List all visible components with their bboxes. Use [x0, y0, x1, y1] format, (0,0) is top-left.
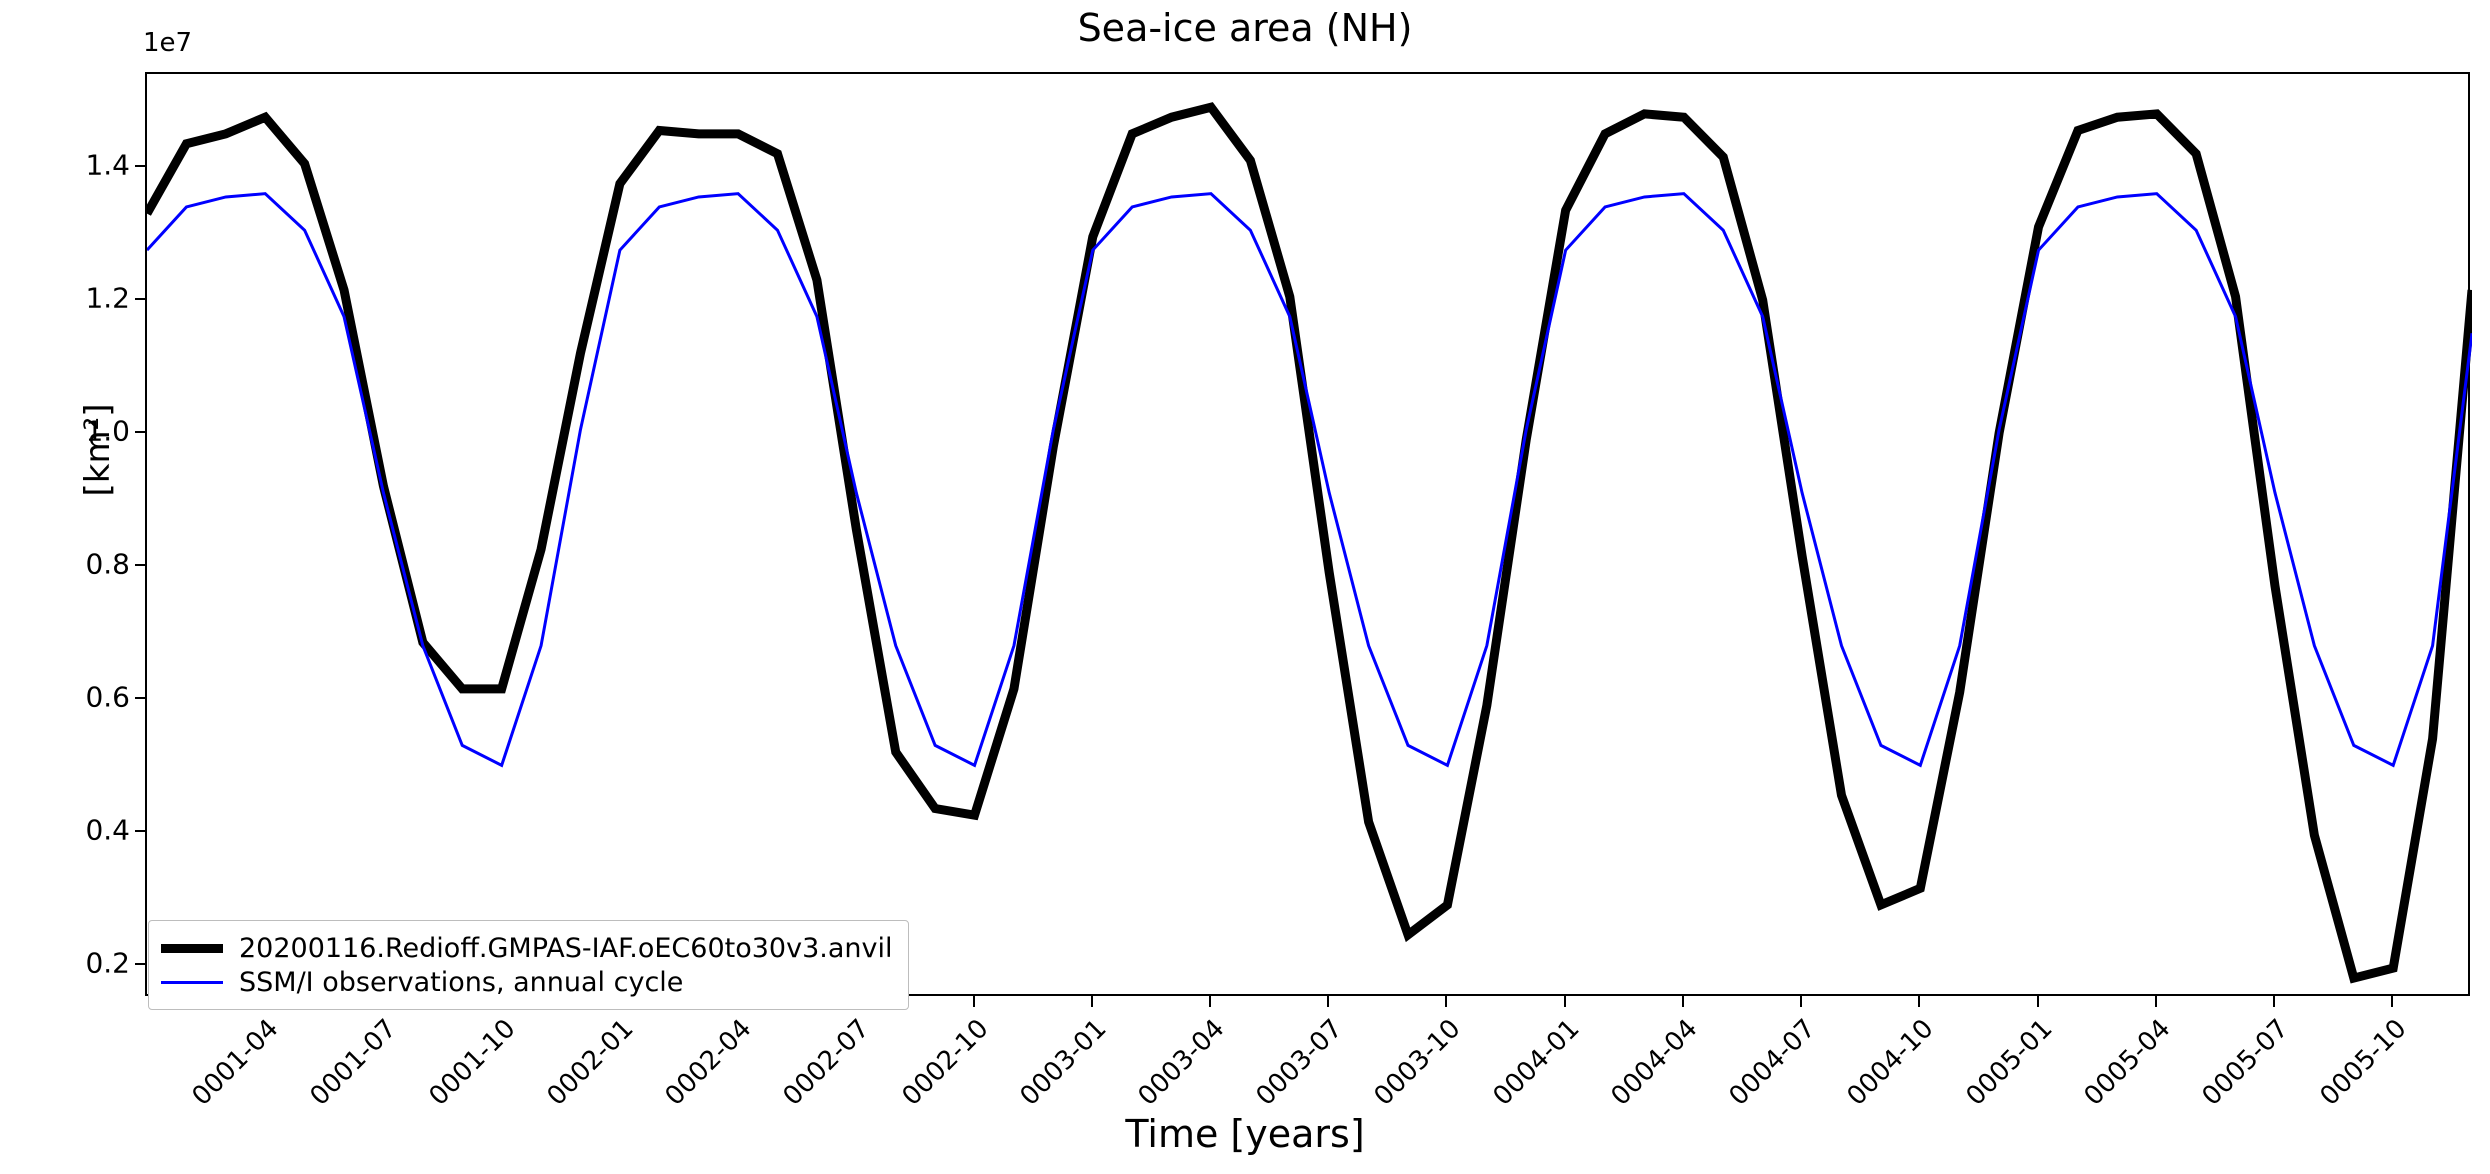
- plot-area: [145, 72, 2470, 996]
- x-tick-mark: [2391, 996, 2393, 1007]
- legend-swatch-line-icon: [161, 944, 223, 953]
- x-tick-mark: [973, 996, 975, 1007]
- y-axis-label: [km²]: [78, 300, 118, 600]
- legend-item: SSM/I observations, annual cycle: [161, 965, 892, 999]
- x-tick-mark: [1445, 996, 1447, 1007]
- x-tick-mark: [1800, 996, 1802, 1007]
- figure-canvas: Sea-ice area (NH) 1e7 0.20.40.60.81.01.2…: [0, 0, 2490, 1174]
- y-tick-mark-group: [0, 72, 146, 996]
- series-line: [147, 194, 2472, 766]
- legend-item-label: SSM/I observations, annual cycle: [239, 967, 683, 998]
- legend-item-label: 20200116.Redioff.GMPAS-IAF.oEC60to30v3.a…: [239, 933, 892, 964]
- legend-swatch-line-icon: [161, 981, 223, 984]
- series-line: [147, 107, 2472, 978]
- x-axis-label: Time [years]: [0, 1112, 2490, 1156]
- legend-item: 20200116.Redioff.GMPAS-IAF.oEC60to30v3.a…: [161, 931, 892, 965]
- x-tick-mark: [1682, 996, 1684, 1007]
- x-tick-mark: [2273, 996, 2275, 1007]
- x-tick-mark: [1091, 996, 1093, 1007]
- legend: 20200116.Redioff.GMPAS-IAF.oEC60to30v3.a…: [148, 920, 909, 1010]
- x-tick-mark: [1564, 996, 1566, 1007]
- x-tick-mark: [2155, 996, 2157, 1007]
- x-tick-mark: [1918, 996, 1920, 1007]
- x-tick-label-group: 0001-040001-070001-100002-010002-040002-…: [145, 1008, 2470, 1108]
- x-tick-mark: [1209, 996, 1211, 1007]
- x-tick-mark: [1327, 996, 1329, 1007]
- x-tick-mark: [2037, 996, 2039, 1007]
- y-axis-exponent-label: 1e7: [143, 28, 192, 58]
- chart-lines: [147, 74, 2472, 998]
- page-title: Sea-ice area (NH): [0, 6, 2490, 50]
